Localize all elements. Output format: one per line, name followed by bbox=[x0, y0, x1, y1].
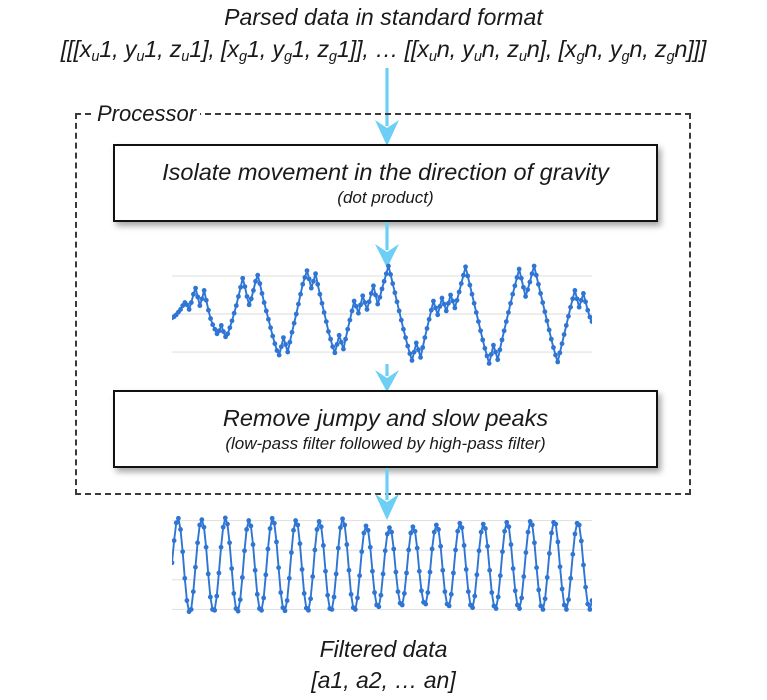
input-caption: Parsed data in standard format [[[xu1, y… bbox=[0, 2, 767, 70]
chart-raw-signal bbox=[172, 255, 592, 373]
process-step-remove-peaks[interactable]: Remove jumpy and slow peaks (low-pass fi… bbox=[113, 390, 658, 468]
chart-filtered-signal bbox=[172, 505, 592, 625]
processor-label: Processor bbox=[93, 101, 200, 127]
process-step-1-subtitle: (dot product) bbox=[337, 187, 433, 209]
input-data-format: [[[xu1, yu1, zu1], [xg1, yg1, zg1]], … [… bbox=[0, 32, 767, 70]
chart-raw-series bbox=[172, 264, 592, 366]
output-data-format: [a1, a2, … an] bbox=[0, 665, 767, 696]
process-step-2-title: Remove jumpy and slow peaks bbox=[223, 403, 548, 433]
process-step-2-subtitle: (low-pass filter followed by high-pass f… bbox=[225, 433, 545, 455]
page-title: Parsed data in standard format bbox=[0, 2, 767, 32]
output-caption: Filtered data [a1, a2, … an] bbox=[0, 634, 767, 696]
output-title: Filtered data bbox=[0, 634, 767, 665]
process-step-isolate-gravity[interactable]: Isolate movement in the direction of gra… bbox=[113, 144, 658, 222]
chart-filtered-series bbox=[172, 515, 592, 614]
process-step-1-title: Isolate movement in the direction of gra… bbox=[162, 157, 609, 187]
